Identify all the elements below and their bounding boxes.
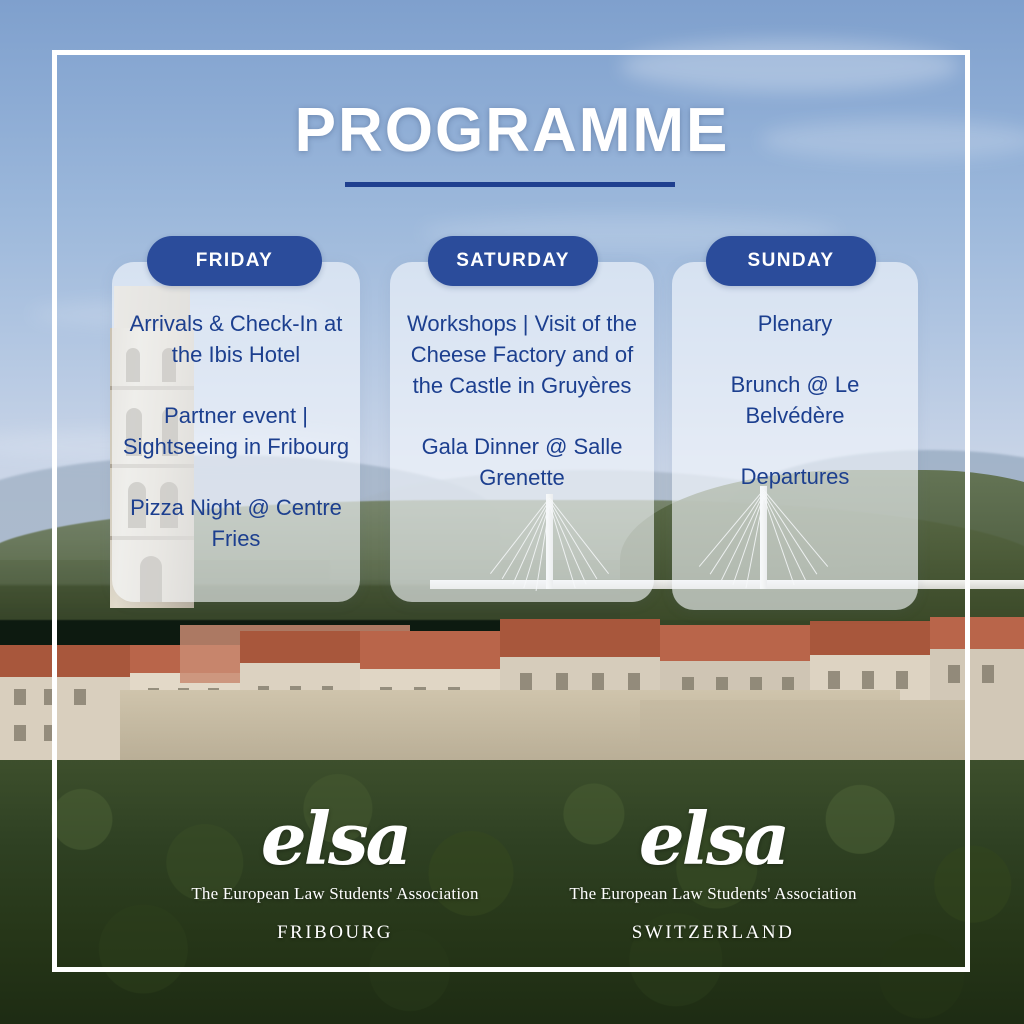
elsa-wordmark-icon: elsa [170, 800, 500, 878]
event-item: Arrivals & Check-In at the Ibis Hotel [112, 308, 360, 370]
elsa-tagline: The European Law Students' Association [548, 884, 878, 904]
event-item: Partner event | Sightseeing in Fribourg [112, 400, 360, 462]
programme-poster: PROGRAMME FRIDAY SATURDAY SUNDAY Arrival… [0, 0, 1024, 1024]
event-item: Departures [672, 461, 918, 492]
day-badge-friday[interactable]: FRIDAY [147, 236, 322, 286]
event-item: Pizza Night @ Centre Fries [112, 492, 360, 554]
elsa-tagline: The European Law Students' Association [170, 884, 500, 904]
day-events-sunday: Plenary Brunch @ Le Belvédère Departures [672, 308, 918, 492]
event-item: Workshops | Visit of the Cheese Factory … [390, 308, 654, 401]
day-events-saturday: Workshops | Visit of the Cheese Factory … [390, 308, 654, 493]
day-events-friday: Arrivals & Check-In at the Ibis Hotel Pa… [112, 308, 360, 554]
elsa-wordmark-icon: elsa [548, 800, 878, 878]
day-badge-saturday[interactable]: SATURDAY [428, 236, 598, 286]
elsa-logo-fribourg: elsa The European Law Students' Associat… [170, 800, 500, 944]
event-item: Plenary [672, 308, 918, 339]
elsa-logo-switzerland: elsa The European Law Students' Associat… [548, 800, 878, 944]
elsa-location: SWITZERLAND [548, 922, 878, 944]
event-item: Gala Dinner @ Salle Grenette [390, 431, 654, 493]
day-badge-sunday[interactable]: SUNDAY [706, 236, 876, 286]
elsa-location: FRIBOURG [170, 922, 500, 944]
event-item: Brunch @ Le Belvédère [672, 369, 918, 431]
